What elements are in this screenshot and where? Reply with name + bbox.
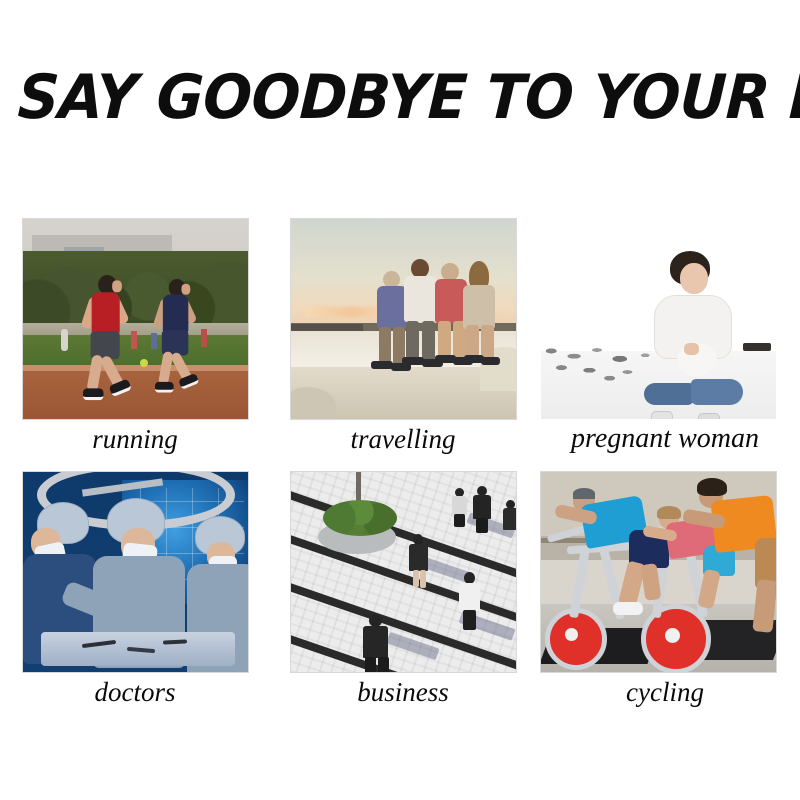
scene-running [23, 219, 248, 419]
caption-running: running [4, 422, 266, 456]
page-title: SAY GOODBYE TO YOUR PAIN [16, 58, 738, 138]
grid-cell-travelling[interactable]: travelling [272, 210, 534, 472]
image-thumbnail-business[interactable] [290, 471, 517, 673]
caption-travelling: travelling [272, 422, 534, 456]
caption-cycling: cycling [534, 675, 796, 709]
grid-cell-doctors[interactable]: doctors [4, 463, 266, 725]
image-thumbnail-cycling[interactable] [540, 471, 777, 673]
caption-business: business [272, 675, 534, 709]
image-thumbnail-doctors[interactable] [22, 471, 249, 673]
scene-doctors [23, 472, 248, 672]
grid-cell-pregnant-woman[interactable]: pregnant woman [534, 210, 796, 472]
benefit-image-grid: running [0, 205, 800, 745]
image-thumbnail-travelling[interactable] [290, 218, 517, 420]
caption-pregnant-woman: pregnant woman [534, 422, 796, 456]
caption-doctors: doctors [4, 675, 266, 709]
grid-cell-cycling[interactable]: cycling [534, 463, 796, 725]
scene-business [291, 472, 516, 672]
poster-canvas: SAY GOODBYE TO YOUR PAIN [0, 0, 800, 800]
scene-travelling [291, 219, 516, 419]
grid-cell-running[interactable]: running [4, 210, 266, 472]
scene-pregnant-woman [541, 219, 776, 419]
scene-cycling [541, 472, 776, 672]
grid-cell-business[interactable]: business [272, 463, 534, 725]
image-thumbnail-pregnant-woman[interactable] [540, 218, 777, 420]
image-thumbnail-running[interactable] [22, 218, 249, 420]
